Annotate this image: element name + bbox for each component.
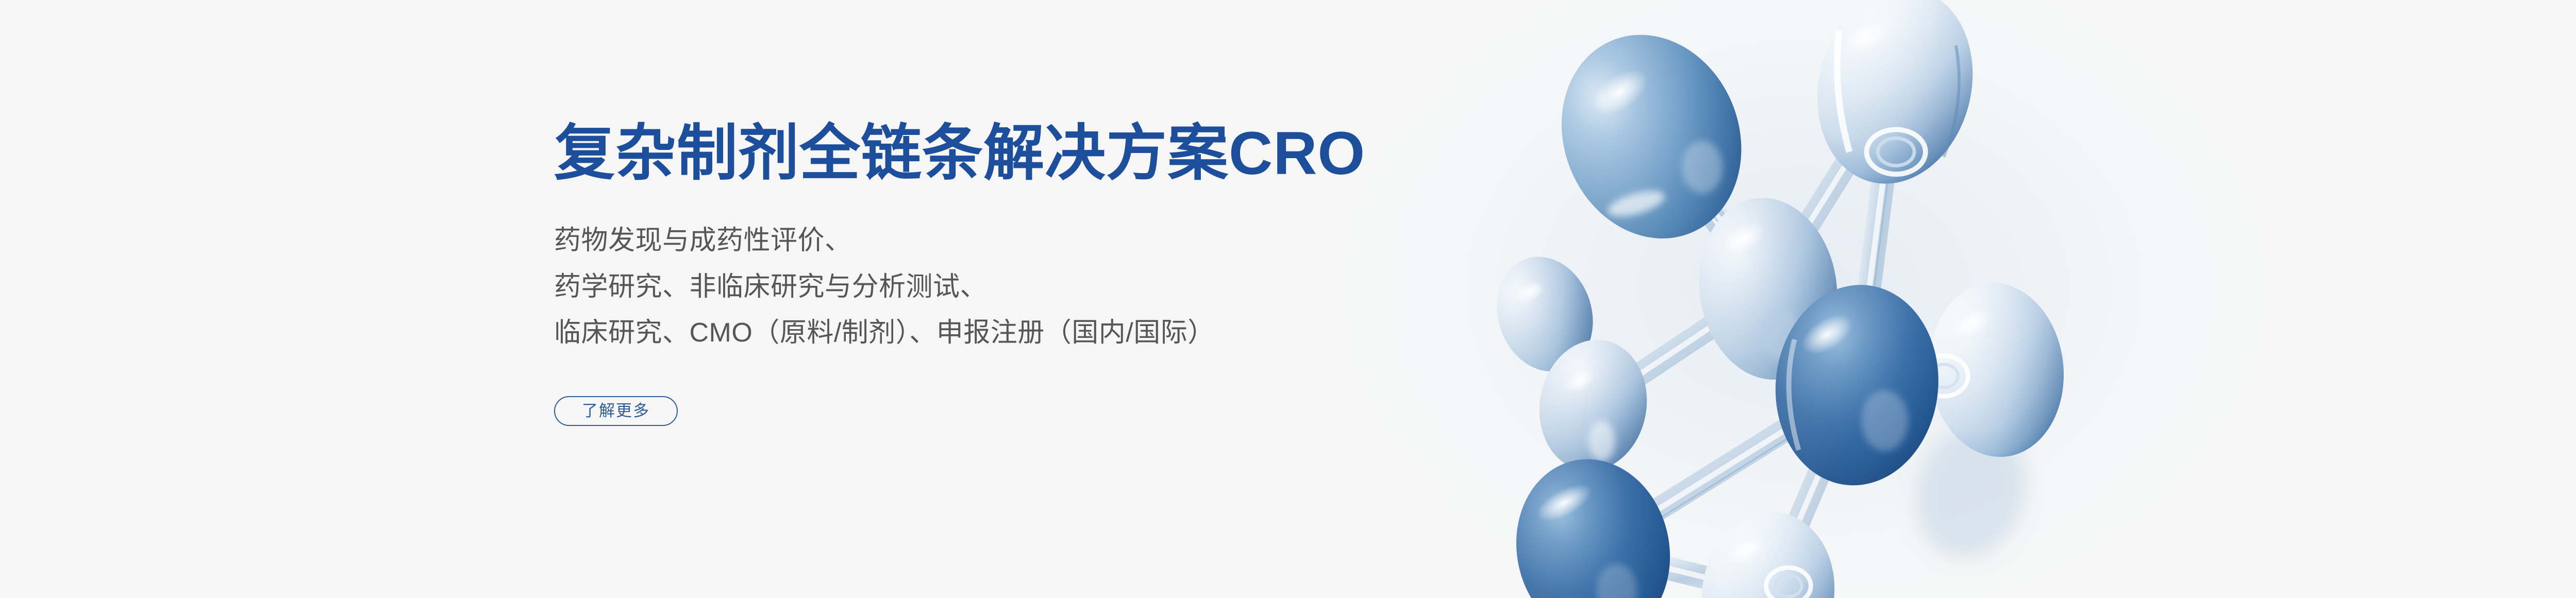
atom-top-left-blue [1532, 8, 1771, 266]
atom-center-deep-blue [1766, 277, 1948, 493]
subtitle-line-1: 药物发现与成药性评价、 [554, 218, 1456, 264]
atom-bottom-left-blue [1500, 445, 1687, 598]
page-title: 复杂制剂全链条解决方案CRO [554, 122, 1456, 186]
hero-subtitle-group: 药物发现与成药性评价、 药学研究、非临床研究与分析测试、 临床研究、CMO（原料… [554, 218, 1456, 356]
atom-upper-mid-pale [1687, 189, 1849, 389]
glass-molecule-illustration [1350, 0, 2227, 598]
atom-right-clear [1919, 276, 2072, 464]
molecule-bonds [1545, 86, 1997, 593]
subtitle-line-3: 临床研究、CMO（原料/制剂）、申报注册（国内/国际） [554, 310, 1456, 356]
atom-top-right-clear [1797, 0, 1993, 200]
subtitle-line-2: 药学研究、非临床研究与分析测试、 [554, 264, 1456, 310]
atom-bottom-mid-clear [1692, 503, 1845, 598]
atom-left-pale-small [1482, 244, 1607, 384]
atom-left-pale-lower [1529, 331, 1657, 480]
hero-banner: 复杂制剂全链条解决方案CRO 药物发现与成药性评价、 药学研究、非临床研究与分析… [0, 0, 2576, 598]
shadow-blob [1900, 412, 2043, 572]
molecule-shadow-blobs [1900, 412, 2043, 572]
learn-more-button[interactable]: 了解更多 [554, 396, 678, 426]
cta-wrapper: 了解更多 [554, 396, 1456, 426]
hero-text-column: 复杂制剂全链条解决方案CRO 药物发现与成药性评价、 药学研究、非临床研究与分析… [554, 122, 1456, 426]
